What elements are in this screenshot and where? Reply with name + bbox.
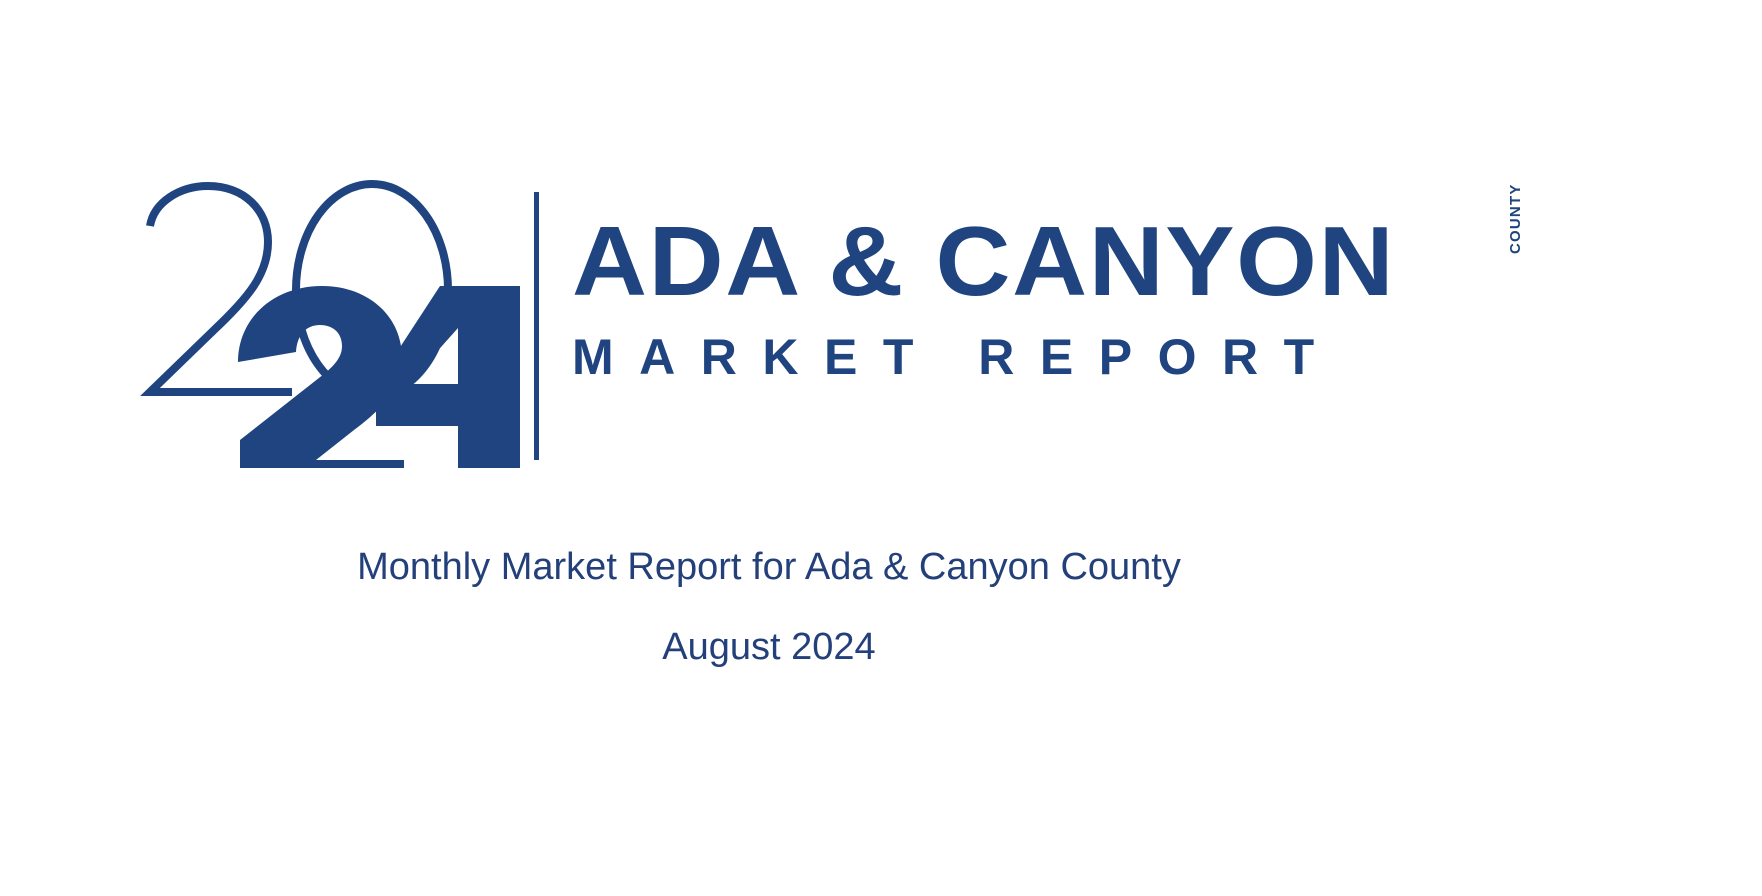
cover-subtitle-block: Monthly Market Report for Ada & Canyon C… xyxy=(0,548,1538,666)
brand-wordmark: ADA & CANYON COUNTY MARKET REPORT xyxy=(572,212,1432,432)
logo-divider-rule xyxy=(534,192,539,460)
wordmark-primary-text: ADA & CANYON xyxy=(572,212,1484,310)
cover-subtitle-line-1: Monthly Market Report for Ada & Canyon C… xyxy=(0,548,1538,586)
year-2024-monogram-icon xyxy=(140,178,520,468)
wordmark-secondary-text: MARKET REPORT xyxy=(572,332,1432,382)
cover-subtitle-line-2: August 2024 xyxy=(0,628,1538,666)
brand-logo-lockup: ADA & CANYON COUNTY MARKET REPORT xyxy=(140,178,1430,468)
wordmark-county-superscript: COUNTY xyxy=(1507,183,1524,254)
report-cover-slide: ADA & CANYON COUNTY MARKET REPORT Monthl… xyxy=(0,0,1762,896)
